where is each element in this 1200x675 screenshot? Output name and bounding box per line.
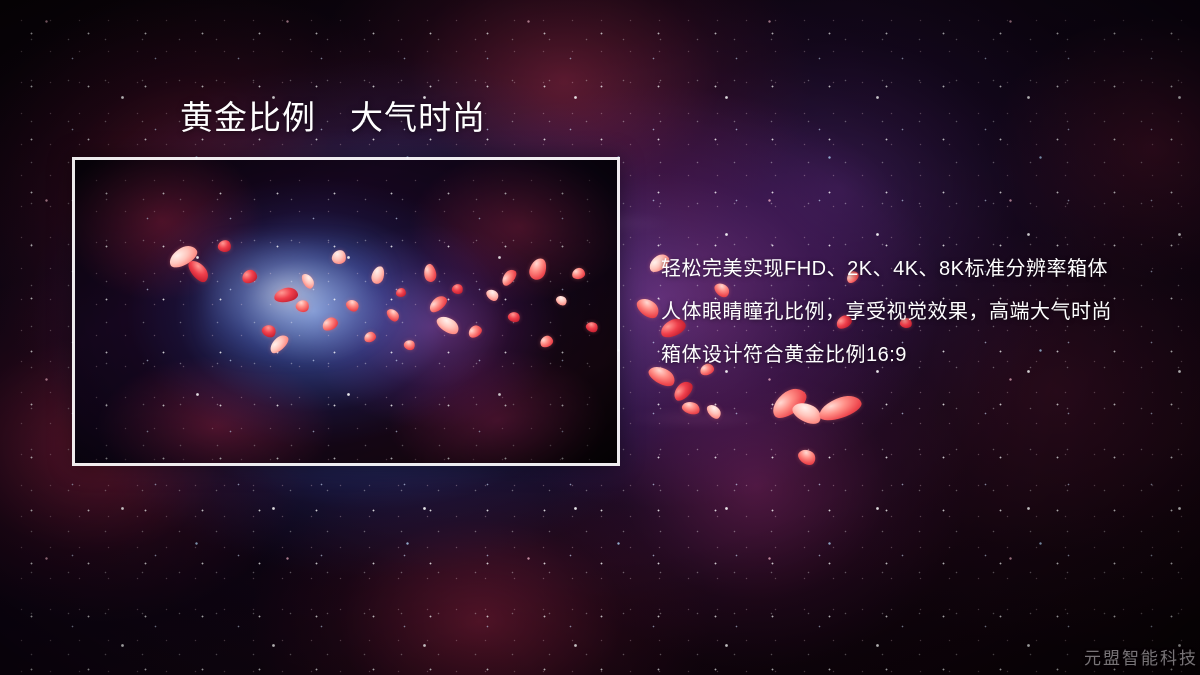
petal — [217, 239, 232, 253]
petal — [527, 256, 548, 282]
petal — [331, 249, 347, 265]
petal — [300, 272, 316, 291]
petal — [816, 392, 864, 425]
petal — [796, 446, 819, 468]
petal — [385, 306, 401, 323]
petal — [320, 315, 339, 332]
petal — [241, 268, 259, 284]
petal — [396, 288, 406, 297]
petal — [466, 323, 484, 340]
petal — [499, 267, 519, 288]
petal — [571, 267, 585, 280]
petal — [363, 330, 378, 343]
body-line-3: 箱体设计符合黄金比例16:9 — [661, 334, 1112, 377]
petal — [705, 402, 724, 421]
petal — [370, 265, 386, 285]
petal — [344, 297, 361, 314]
body-line-1: 轻松完美实现FHD、2K、4K、8K标准分辨率箱体 — [661, 248, 1112, 291]
body-copy: 轻松完美实现FHD、2K、4K、8K标准分辨率箱体 人体眼睛瞳孔比例，享受视觉效… — [661, 248, 1112, 377]
petal — [539, 334, 555, 349]
petal — [434, 312, 462, 337]
petal — [426, 293, 449, 315]
petal — [451, 283, 465, 296]
petal — [294, 298, 310, 314]
petal — [507, 310, 522, 324]
petal — [634, 294, 663, 322]
petal — [185, 257, 211, 285]
watermark: 元盟智能科技 — [1084, 644, 1198, 669]
petal — [681, 400, 702, 417]
petal — [422, 263, 437, 283]
petal — [584, 320, 599, 334]
body-line-2: 人体眼睛瞳孔比例，享受视觉效果，高端大气时尚 — [661, 291, 1112, 334]
petal — [484, 287, 500, 303]
slide-root: 黄金比例 大气时尚 轻松完美实现FHD、2K、4K、8K标准分辨率箱体 人体眼睛… — [0, 0, 1200, 675]
petal — [402, 338, 416, 352]
page-title: 黄金比例 大气时尚 — [180, 99, 486, 137]
petal — [260, 322, 278, 339]
petal — [273, 286, 299, 303]
petal — [554, 294, 568, 308]
